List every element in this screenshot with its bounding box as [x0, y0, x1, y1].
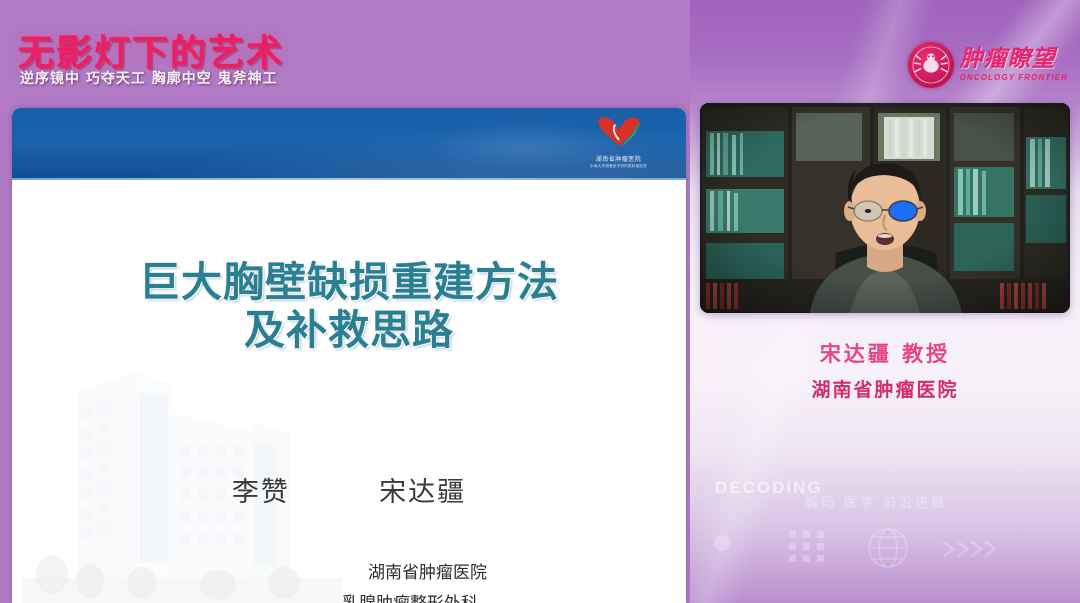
slide-presenters: 李赞 宋达疆: [12, 470, 686, 509]
presenter-name-1: 李赞: [232, 477, 290, 508]
affiliation-line-1: 湖南省肿瘤医院: [342, 558, 642, 589]
chevrons-right-icon: [940, 537, 1000, 561]
dot-grid-icon: [785, 527, 831, 567]
affiliation-line-2: 乳腺肿瘤整形外科: [342, 589, 642, 603]
program-subtitle: 逆序镜中 巧夺天工 胸廓中空 鬼斧神工: [20, 68, 278, 88]
slide-title-line2: 及补救思路: [12, 306, 686, 354]
speaker-video-tile[interactable]: [700, 103, 1070, 313]
right-video-panel: 肿瘤瞭望 ONCOLOGY FRONTIER: [690, 0, 1080, 603]
brand-text: 肿瘤瞭望 ONCOLOGY FRONTIER: [960, 48, 1068, 82]
slide-body: 巨大胸壁缺损重建方法 及补救思路 李赞 宋达疆 湖南省肿瘤医院 乳腺肿瘤整形外科…: [12, 180, 686, 603]
slide-title-line1: 巨大胸壁缺损重建方法: [12, 258, 686, 306]
crab-emblem-icon: [908, 42, 954, 88]
hospital-name-en: 中南大学湘雅医学院附属肿瘤医院: [590, 164, 647, 169]
brand-name-en: ONCOLOGY FRONTIER: [960, 74, 1068, 82]
slide-title: 巨大胸壁缺损重建方法 及补救思路: [12, 258, 686, 355]
brand-logo: 肿瘤瞭望 ONCOLOGY FRONTIER: [908, 42, 1068, 88]
crab-glyph: [912, 46, 950, 84]
left-slide-panel: 无影灯下的艺术 逆序镜中 巧夺天工 胸廓中空 鬼斧神工 湖南省肿瘤医院 中南大学…: [0, 0, 690, 603]
watermark-cn: 解码 医学 前沿进展: [805, 492, 947, 511]
webcam-video-frame: [700, 103, 1070, 313]
heart-ribbon-logo-icon: [592, 114, 646, 152]
presentation-slide: 湖南省肿瘤医院 中南大学湘雅医学院附属肿瘤医院: [12, 108, 686, 603]
globe-icon: [865, 525, 911, 571]
presenter-name-2: 宋达疆: [379, 477, 466, 508]
decor-icon-row: [690, 525, 1080, 580]
dot-icon: [712, 533, 732, 553]
slide-affiliation: 湖南省肿瘤医院 乳腺肿瘤整形外科 肿瘤整形外科研究室: [342, 558, 642, 603]
speaker-name-label: 宋达疆 教授: [690, 338, 1080, 368]
hospital-logo: 湖南省肿瘤医院 中南大学湘雅医学院附属肿瘤医院: [571, 114, 666, 176]
hospital-name-cn: 湖南省肿瘤医院: [596, 154, 642, 163]
slide-header-band: 湖南省肿瘤医院 中南大学湘雅医学院附属肿瘤医院: [12, 108, 686, 180]
screen-root: 无影灯下的艺术 逆序镜中 巧夺天工 胸廓中空 鬼斧神工 湖南省肿瘤医院 中南大学…: [0, 0, 1080, 603]
speaker-org-label: 湖南省肿瘤医院: [690, 375, 1080, 402]
brand-name-cn: 肿瘤瞭望: [960, 48, 1068, 71]
